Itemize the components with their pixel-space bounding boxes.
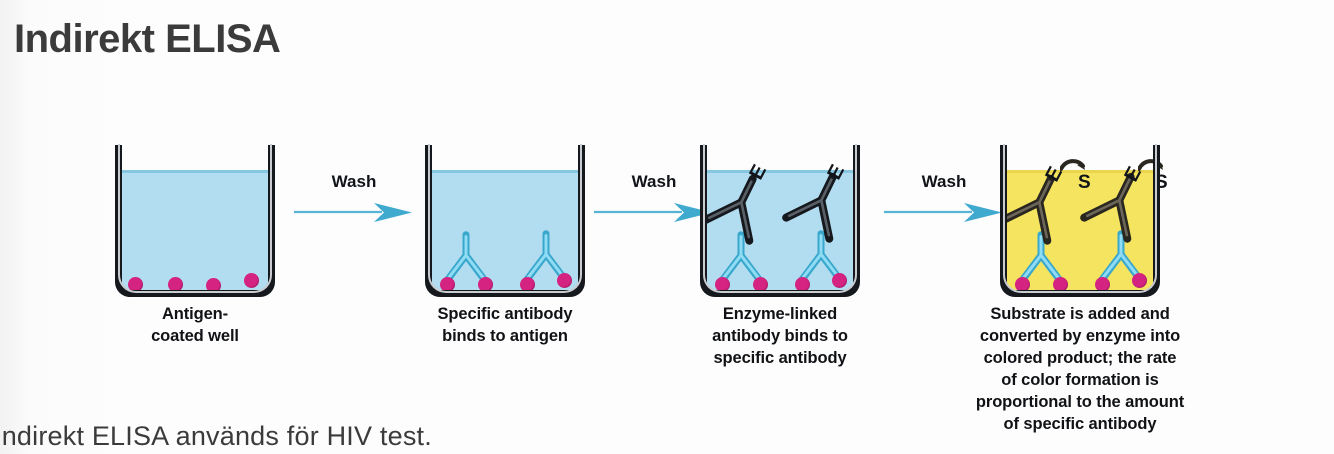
elisa-step-4: E S xyxy=(955,128,1205,300)
well-4: E S xyxy=(955,128,1205,300)
caption-step-2: Specific antibody binds to antigen xyxy=(380,304,630,348)
caption-line: Enzyme-linked xyxy=(655,304,905,326)
well-4-contents: E S xyxy=(1005,150,1155,292)
antigen-dot xyxy=(715,277,730,292)
caption-line: of specific antibody xyxy=(955,414,1205,436)
caption-line: binds to antigen xyxy=(380,326,630,348)
antigen-dot xyxy=(168,277,183,292)
enzyme-linked-antibody xyxy=(773,156,867,250)
well-1 xyxy=(70,128,320,300)
antigen-dot xyxy=(440,277,455,292)
antigen-dot xyxy=(206,278,221,293)
caption-step-3: Enzyme-linked antibody binds to specific… xyxy=(655,304,905,370)
conversion-arrow-icon xyxy=(1060,158,1086,172)
caption-line: converted by enzyme into xyxy=(955,326,1205,348)
elisa-step-1: Antigen- coated well xyxy=(70,128,320,300)
caption-line: proportional to the amount xyxy=(955,392,1205,414)
antigen-dot xyxy=(557,273,572,288)
caption-line: Specific antibody xyxy=(380,304,630,326)
caption-step-4: Substrate is added and converted by enzy… xyxy=(955,304,1205,436)
antigen-dot xyxy=(832,273,847,288)
caption-step-1: Antigen- coated well xyxy=(70,304,320,348)
antigen-dot xyxy=(1015,277,1030,292)
caption-line: Substrate is added and xyxy=(955,304,1205,326)
antigen-dot xyxy=(520,277,535,292)
enzyme-linked-antibody xyxy=(693,158,787,252)
substrate-label: S xyxy=(1078,172,1091,194)
antigen-dot xyxy=(1132,273,1147,288)
well-3: E xyxy=(655,128,905,300)
page-title: Indirekt ELISA xyxy=(14,17,280,62)
substrate-label: S xyxy=(1155,172,1168,194)
antigen-dot xyxy=(753,277,768,292)
well-3-contents: E xyxy=(705,150,855,292)
antigen-dot xyxy=(478,277,493,292)
caption-line: colored product; the rate xyxy=(955,348,1205,370)
antigen-dot xyxy=(795,277,810,292)
well-1-contents xyxy=(120,150,270,292)
slide-body-text: Indirekt ELISA används för HIV test. xyxy=(0,421,432,452)
caption-line: of color formation is xyxy=(955,370,1205,392)
elisa-diagram: Antigen- coated well Wash xyxy=(0,128,1334,428)
conversion-arrow-icon xyxy=(1138,158,1164,172)
enzyme-linked-antibody xyxy=(991,158,1085,252)
caption-line: specific antibody xyxy=(655,348,905,370)
caption-line: Antigen- xyxy=(70,304,320,326)
caption-line: coated well xyxy=(70,326,320,348)
well-2-contents xyxy=(430,150,580,292)
antigen-dot xyxy=(128,277,143,292)
antigen-dot xyxy=(1053,277,1068,292)
antigen-dot xyxy=(1095,277,1110,292)
elisa-step-3: E xyxy=(655,128,905,300)
caption-line: antibody binds to xyxy=(655,326,905,348)
antigen-dot xyxy=(244,273,259,288)
